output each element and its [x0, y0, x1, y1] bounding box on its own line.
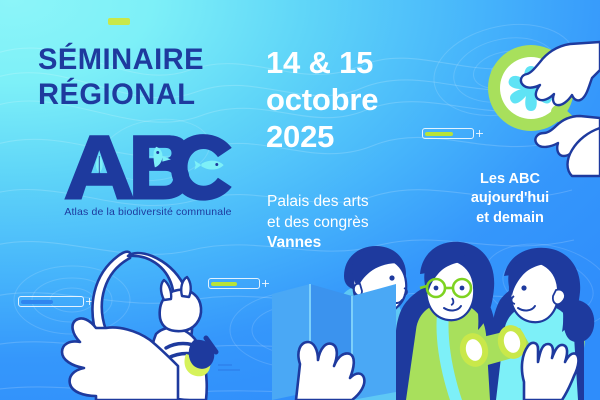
decorative-progress-marker-green-b — [422, 128, 474, 139]
leaves-illustration — [282, 290, 585, 372]
abc-logo-mark — [62, 133, 234, 202]
hand-holding-map-left — [62, 318, 178, 400]
event-venue: Palais des arts et des congrès Vannes — [267, 172, 369, 274]
event-theme: Les ABC aujourd'hui et demain — [440, 170, 580, 228]
poster-canvas: SÉMINAIRE RÉGIONAL — [0, 0, 600, 400]
logo-tagline: Atlas de la biodiversité communale — [53, 206, 243, 218]
event-dates: 14 & 15 octobre 2025 — [266, 44, 378, 156]
person-woman-binoculars — [491, 248, 594, 400]
person-woman-glasses — [396, 242, 497, 400]
page-title: SÉMINAIRE RÉGIONAL — [38, 42, 204, 113]
squirrel-illustration — [92, 252, 216, 400]
hand-holding-magnifier-lower — [535, 116, 600, 176]
binoculars-icon — [456, 322, 534, 370]
hand-holding-map-right — [296, 342, 364, 400]
abc-logo: Atlas de la biodiversité communale — [62, 133, 252, 218]
decorative-progress-marker-blue — [18, 296, 84, 307]
folded-map-illustration — [272, 284, 396, 400]
venue-place: Palais des arts et des congrès — [267, 193, 369, 230]
decorative-marker-lime — [108, 18, 130, 25]
decorative-progress-marker-green-a — [208, 278, 260, 289]
magnifying-glass-icon — [488, 45, 575, 131]
venue-city: Vannes — [267, 233, 369, 253]
waving-hand — [522, 343, 579, 400]
hand-holding-magnifier-upper — [521, 42, 600, 105]
